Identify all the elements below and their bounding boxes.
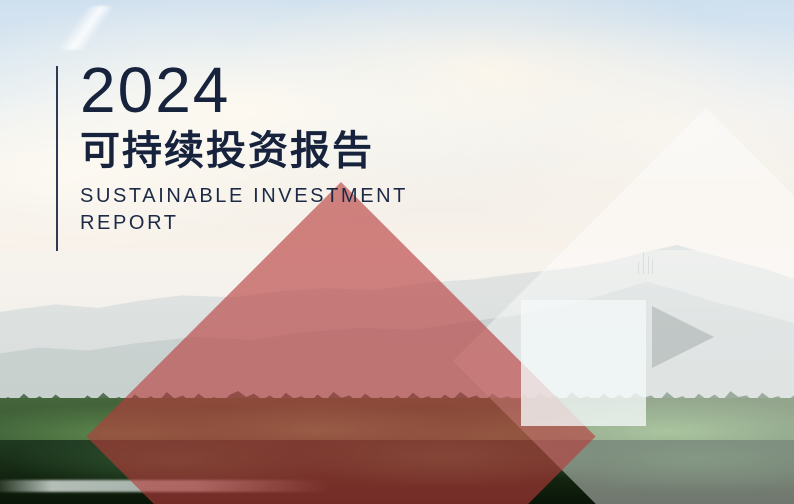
title-block: 2024 可持续投资报告 SUSTAINABLE INVESTMENT REPO… (80, 58, 500, 237)
title-accent-rule (56, 66, 58, 251)
cover-year: 2024 (80, 58, 500, 122)
report-cover: 2024 可持续投资报告 SUSTAINABLE INVESTMENT REPO… (0, 0, 794, 504)
cover-title-english-line2: REPORT (80, 210, 500, 237)
cover-title-english-line1: SUSTAINABLE INVESTMENT (80, 183, 500, 210)
water-reflection-strip (0, 480, 330, 492)
cover-title-english: SUSTAINABLE INVESTMENT REPORT (80, 183, 500, 237)
foreground-canopy (0, 440, 794, 504)
cover-title-chinese: 可持续投资报告 (80, 130, 500, 173)
contrail-streak (30, 6, 150, 50)
atmospheric-haze (0, 250, 794, 410)
